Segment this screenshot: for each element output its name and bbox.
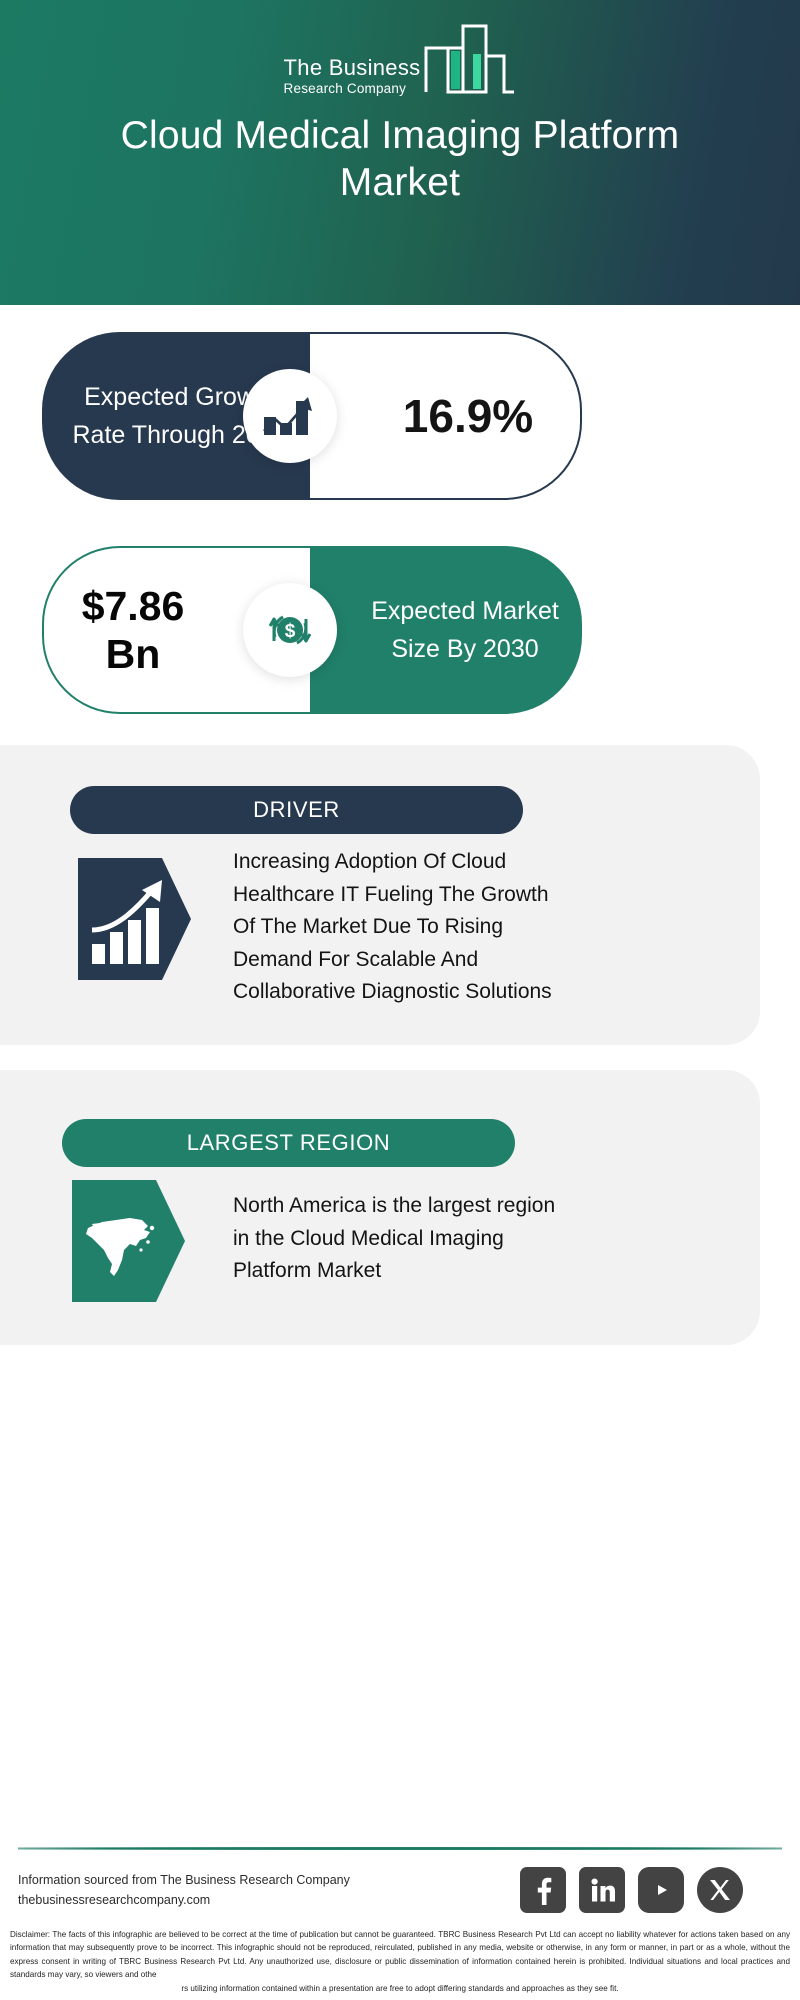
north-america-map-icon <box>72 1180 185 1302</box>
largest-region-pill: LARGEST REGION <box>62 1119 515 1167</box>
page-title: Cloud Medical Imaging Platform Market <box>0 112 800 206</box>
header-banner: The Business Research Company Cloud Medi… <box>0 0 800 305</box>
market-size-value-line2: Bn <box>106 631 205 677</box>
youtube-icon[interactable] <box>638 1867 684 1913</box>
bar-chart-logo-icon <box>424 22 516 101</box>
social-links <box>520 1866 760 1914</box>
disclaimer-main: Disclaimer: The facts of this infographi… <box>10 1930 790 1979</box>
footer-source-line-1: Information sourced from The Business Re… <box>18 1870 448 1890</box>
company-logo: The Business Research Company <box>0 22 800 103</box>
infographic-page: The Business Research Company Cloud Medi… <box>0 0 800 2000</box>
upward-trend-bars-icon <box>78 858 191 980</box>
market-size-value-line1: $7.86 <box>82 583 229 629</box>
driver-pill: DRIVER <box>70 786 523 834</box>
x-twitter-icon[interactable] <box>697 1867 743 1913</box>
growth-rate-value-block: 16.9% <box>310 332 582 500</box>
footer-website-link[interactable]: thebusinessresearchcompany.com <box>18 1890 448 1910</box>
largest-region-pill-label: LARGEST REGION <box>187 1130 391 1156</box>
disclaimer-last-line: rs utilizing information contained withi… <box>10 1982 790 1995</box>
linkedin-icon[interactable] <box>579 1867 625 1913</box>
largest-region-body-text: North America is the largest region in t… <box>233 1190 563 1288</box>
facebook-icon[interactable] <box>520 1867 566 1913</box>
footer-divider <box>18 1847 782 1850</box>
growth-rate-value: 16.9% <box>357 389 533 443</box>
logo-line-1: The Business <box>284 57 421 79</box>
market-size-label-block: Expected Market Size By 2030 <box>310 546 582 714</box>
logo-line-2: Research Company <box>284 79 407 99</box>
driver-pill-label: DRIVER <box>253 797 340 823</box>
logo-wordmark: The Business Research Company <box>284 57 421 99</box>
driver-body-text: Increasing Adoption Of Cloud Healthcare … <box>233 846 563 1009</box>
growth-chart-arrow-icon <box>243 369 337 463</box>
market-size-label: Expected Market Size By 2030 <box>310 592 582 668</box>
dollar-exchange-icon: $ <box>243 583 337 677</box>
disclaimer-text: Disclaimer: The facts of this infographi… <box>10 1928 790 1995</box>
svg-text:$: $ <box>285 621 296 642</box>
footer-source: Information sourced from The Business Re… <box>18 1870 448 1910</box>
